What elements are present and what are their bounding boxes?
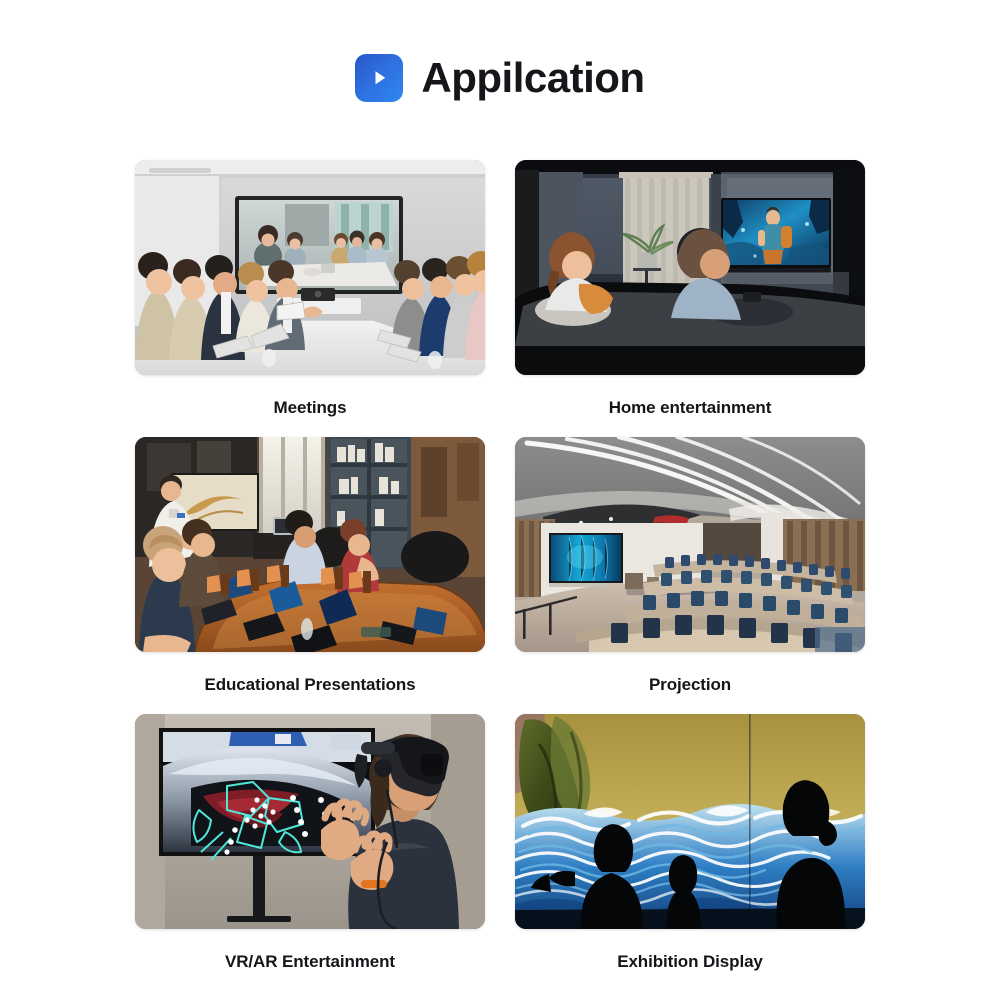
scenario-label: Projection (649, 672, 731, 698)
scenario-label: Exhibition Display (617, 949, 763, 975)
scenario-grid: Meetings (135, 160, 865, 975)
scenario-image-exhibition (515, 714, 865, 929)
scenario-label: VR/AR Entertainment (225, 949, 395, 975)
scenario-image-conference-room (135, 160, 485, 375)
scenario-label: Meetings (274, 395, 347, 421)
application-scenarios-page: Appilcation (0, 0, 1000, 1000)
scenario-card-educational-presentations[interactable]: Educational Presentations (135, 437, 485, 698)
scenario-card-home-entertainment[interactable]: Home entertainment (515, 160, 865, 421)
page-header: Appilcation (0, 0, 1000, 110)
scenario-image-vr-user (135, 714, 485, 929)
scenario-card-projection[interactable]: Projection (515, 437, 865, 698)
scenario-label: Home entertainment (609, 395, 772, 421)
scenario-card-meetings[interactable]: Meetings (135, 160, 485, 421)
scenario-image-training-room (135, 437, 485, 652)
scenario-image-auditorium (515, 437, 865, 652)
scenario-card-exhibition-display[interactable]: Exhibition Display (515, 714, 865, 975)
scenario-label: Educational Presentations (205, 672, 416, 698)
scenario-image-living-room (515, 160, 865, 375)
play-button-icon (355, 54, 403, 102)
scenario-card-vr-ar-entertainment[interactable]: VR/AR Entertainment (135, 714, 485, 975)
page-title: Appilcation (421, 57, 644, 99)
